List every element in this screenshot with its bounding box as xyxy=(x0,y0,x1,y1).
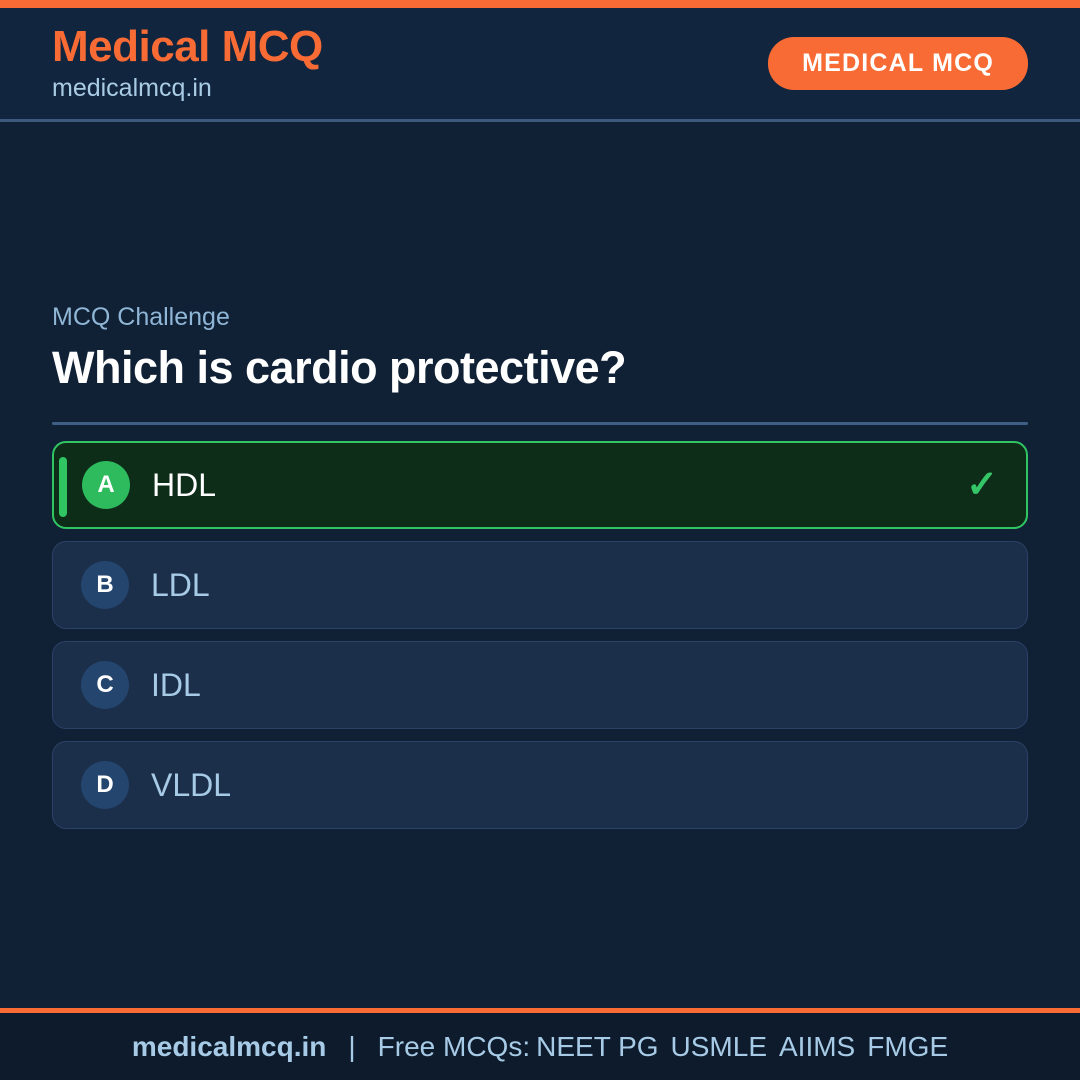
brand-block: Medical MCQ medicalmcq.in xyxy=(52,23,323,105)
option-letter-badge-c: C xyxy=(81,661,129,709)
option-label-b: LDL xyxy=(151,569,210,601)
correct-accent-bar xyxy=(59,457,67,517)
footer-separator: | xyxy=(326,1031,377,1063)
option-row-a[interactable]: A HDL ✓ xyxy=(52,441,1028,529)
footer-exam-neet-pg: NEET PG xyxy=(530,1031,658,1063)
option-letter-badge-a: A xyxy=(82,461,130,509)
footer-exam-aiims: AIIMS xyxy=(767,1031,855,1063)
option-label-a: HDL xyxy=(152,469,216,501)
header-badge: MEDICAL MCQ xyxy=(768,37,1028,90)
option-row-d[interactable]: D VLDL xyxy=(52,741,1028,829)
page-footer: medicalmcq.in | Free MCQs: NEET PG USMLE… xyxy=(0,1008,1080,1080)
option-label-c: IDL xyxy=(151,669,201,701)
footer-exam-usmle: USMLE xyxy=(659,1031,767,1063)
eyebrow-label: MCQ Challenge xyxy=(52,301,1028,334)
footer-exams-label: Free MCQs: xyxy=(378,1031,530,1063)
brand-subtitle: medicalmcq.in xyxy=(52,73,323,104)
question-text: Which is cardio protective? xyxy=(52,342,1028,394)
option-letter-badge-d: D xyxy=(81,761,129,809)
footer-exam-fmge: FMGE xyxy=(855,1031,948,1063)
option-row-b[interactable]: B LDL xyxy=(52,541,1028,629)
top-accent-bar xyxy=(0,0,1080,8)
main-content: MCQ Challenge Which is cardio protective… xyxy=(0,125,1080,1005)
question-divider xyxy=(52,422,1028,425)
option-letter-badge-b: B xyxy=(81,561,129,609)
option-label-d: VLDL xyxy=(151,769,231,801)
page-header: Medical MCQ medicalmcq.in MEDICAL MCQ xyxy=(0,8,1080,122)
check-icon: ✓ xyxy=(966,466,998,504)
options-list: A HDL ✓ B LDL C IDL D VLDL xyxy=(52,441,1028,829)
footer-content: medicalmcq.in | Free MCQs: NEET PG USMLE… xyxy=(132,1031,948,1063)
footer-site-link[interactable]: medicalmcq.in xyxy=(132,1031,327,1063)
brand-title: Medical MCQ xyxy=(52,23,323,71)
option-row-c[interactable]: C IDL xyxy=(52,641,1028,729)
